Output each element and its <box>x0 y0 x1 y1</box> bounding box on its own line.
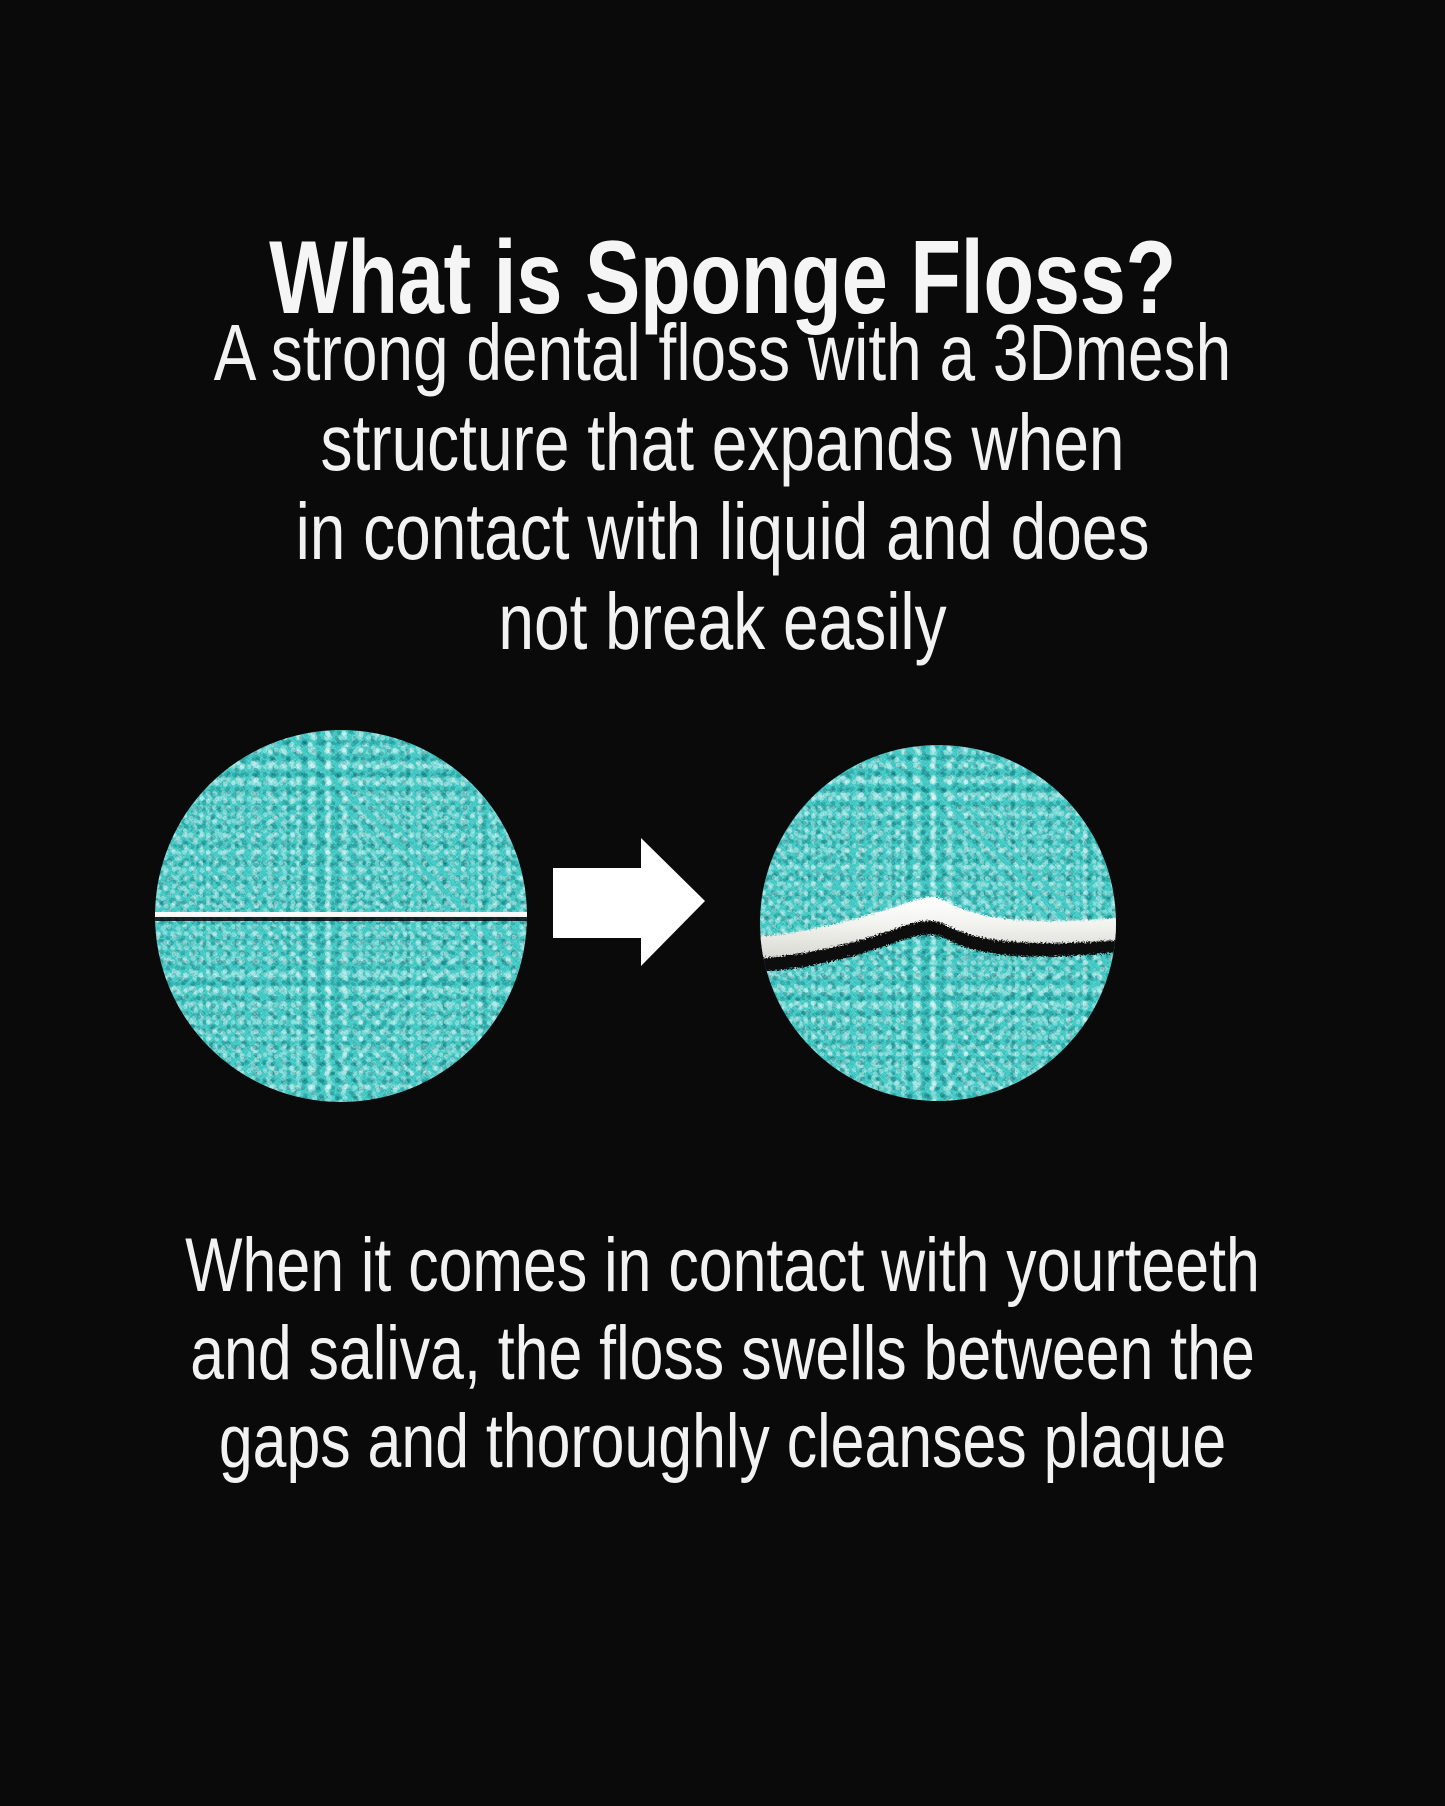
transformation-arrow-icon <box>553 838 705 968</box>
caption-line-3: gaps and thoroughly cleanses plaque <box>145 1398 1301 1486</box>
intro-line-2: structure that expands when <box>145 398 1301 488</box>
sponge-floss-infographic: What is Sponge Floss? A strong dental fl… <box>0 0 1445 1806</box>
caption-paragraph: When it comes in contact with yourteeth … <box>145 1222 1301 1486</box>
intro-paragraph: A strong dental floss with a 3Dmesh stru… <box>145 308 1301 666</box>
comparison-figure <box>0 700 1445 1130</box>
intro-line-4: not break easily <box>145 577 1301 667</box>
swollen-floss-strand <box>760 881 1116 971</box>
dry-floss-circle-image <box>155 730 527 1102</box>
caption-line-2: and saliva, the floss swells between the <box>145 1310 1301 1398</box>
thin-floss-strand <box>155 912 527 917</box>
intro-line-3: in contact with liquid and does <box>145 487 1301 577</box>
intro-line-1: A strong dental floss with a 3Dmesh <box>145 308 1301 398</box>
swollen-floss-circle-image <box>760 745 1116 1101</box>
caption-line-1: When it comes in contact with yourteeth <box>145 1222 1301 1310</box>
